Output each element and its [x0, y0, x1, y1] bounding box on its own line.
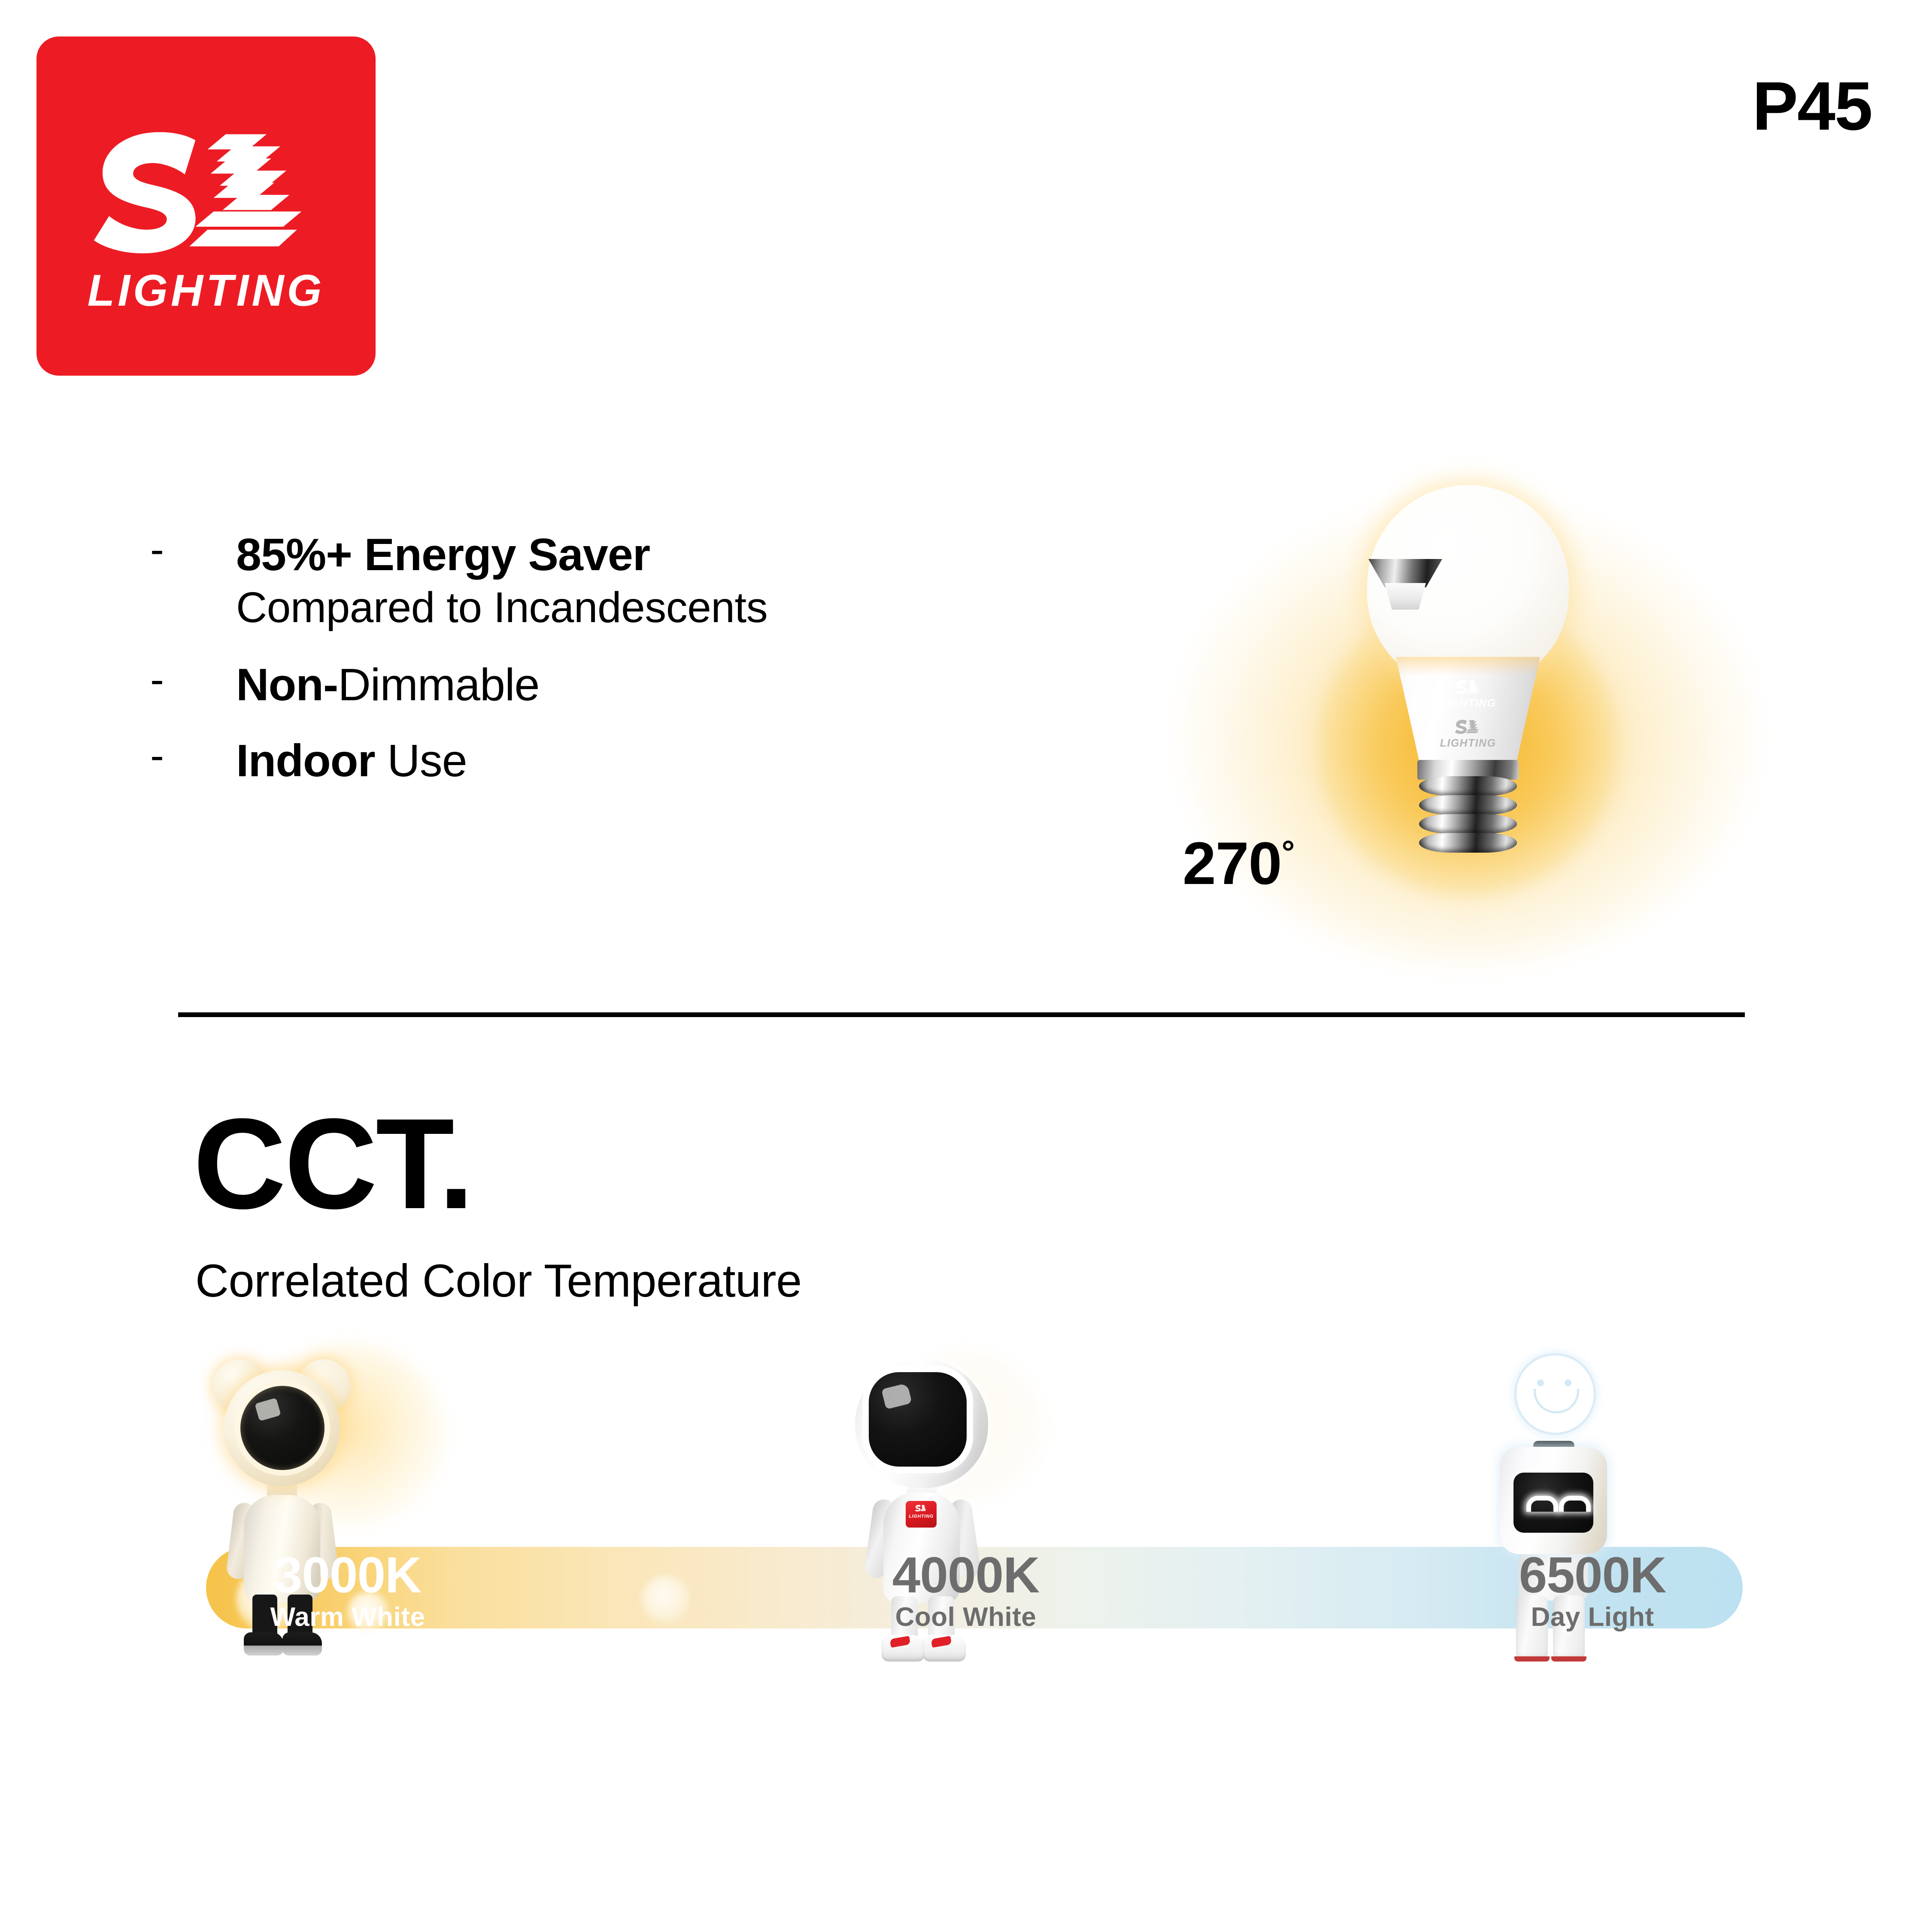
screw-thread — [1419, 814, 1517, 834]
mascot-sole-right — [1551, 1656, 1586, 1662]
mascot-sole-left — [1514, 1656, 1550, 1662]
smiley-mouth — [1534, 1389, 1579, 1413]
feature-energy-saver-subline: Compared to Incandescents — [236, 582, 1202, 633]
beam-angle-value: 270 — [1183, 829, 1282, 897]
cct-subtitle: Correlated Color Temperature — [195, 1254, 802, 1307]
bulb-brandmark-bottom-word: LIGHTING — [1356, 737, 1580, 750]
feature-indoor-regular: Use — [375, 735, 467, 786]
cct-title: CCT. — [193, 1099, 473, 1228]
feature-energy-saver-headline: 85%+ Energy Saver — [236, 529, 650, 580]
bulb-brandmark-top-word: LIGHTING — [1356, 697, 1580, 710]
led-bulb-p45: LIGHTING LIG — [1356, 485, 1580, 919]
mascot-boot-left — [1516, 1595, 1548, 1658]
feature-item-non-dimmable: - Non-Dimmable — [150, 658, 1202, 712]
feature-indoor-bold: Indoor — [236, 735, 375, 786]
cool-white-astronaut-mascot: LIGHTING — [816, 1348, 1116, 1674]
feature-non-dimmable-regular: Dimmable — [338, 659, 539, 710]
mascot-shoe-right — [282, 1632, 322, 1656]
sl-monogram-icon — [1356, 679, 1580, 696]
daylight-cube-robot-mascot — [1442, 1348, 1743, 1674]
bulb-screw-base-e27 — [1419, 776, 1517, 876]
feature-item-energy-saver: - 85%+ Energy Saver Compared to Incandes… — [150, 528, 1202, 633]
bullet-dash-icon: - — [150, 734, 164, 778]
feature-list: - 85%+ Energy Saver Compared to Incandes… — [150, 528, 1202, 801]
screw-thread — [1419, 776, 1517, 796]
sl-monogram-icon — [36, 127, 376, 255]
section-divider — [178, 1012, 1745, 1017]
mascot-visor — [240, 1386, 325, 1470]
bar-light-orb — [642, 1575, 690, 1623]
smiley-face-icon — [1514, 1353, 1596, 1435]
mascot-torso — [244, 1495, 320, 1602]
mascot-eye-left — [1526, 1496, 1558, 1512]
screw-thread — [1419, 795, 1517, 815]
smiley-eye-left — [1537, 1379, 1544, 1386]
mascot-eye-right — [1559, 1496, 1591, 1512]
mascot-badge-word: LIGHTING — [906, 1514, 937, 1519]
bullet-dash-icon: - — [150, 658, 164, 702]
beam-angle-label: 270° — [1183, 829, 1294, 898]
smiley-eye-right — [1565, 1379, 1571, 1386]
screw-thread — [1419, 833, 1517, 853]
feature-item-indoor-use: - Indoor Use — [150, 734, 1202, 788]
feature-non-dimmable-bold: Non- — [236, 659, 338, 710]
bulb-brandmark-bottom: LIGHTING — [1356, 719, 1580, 750]
brand-logo-wordmark: LIGHTING — [36, 265, 376, 316]
bulb-brandmark-top: LIGHTING — [1356, 679, 1580, 710]
cct-option-4000k: LIGHTING 4000K Cool White — [816, 1348, 1116, 1674]
mascot-visor — [869, 1372, 967, 1467]
mascot-torso — [1519, 1552, 1588, 1601]
mascot-chest-badge: LIGHTING — [906, 1501, 937, 1528]
bullet-dash-icon: - — [150, 528, 164, 571]
sl-monogram-icon — [906, 1501, 937, 1514]
brand-logo-badge: LIGHTING — [36, 36, 376, 376]
degree-icon: ° — [1282, 834, 1295, 871]
product-code: P45 — [1752, 67, 1872, 146]
mascot-boot-right — [1553, 1595, 1585, 1658]
sl-monogram-icon — [1356, 719, 1580, 736]
cct-option-3000k: 3000K Warm White — [197, 1348, 498, 1674]
mascot-shoe-left — [244, 1632, 283, 1656]
bulb-housing-warm-shade — [1382, 657, 1554, 676]
cct-option-6500k: 6500K Day Light — [1442, 1348, 1743, 1674]
warm-white-robot-mascot — [197, 1348, 498, 1674]
